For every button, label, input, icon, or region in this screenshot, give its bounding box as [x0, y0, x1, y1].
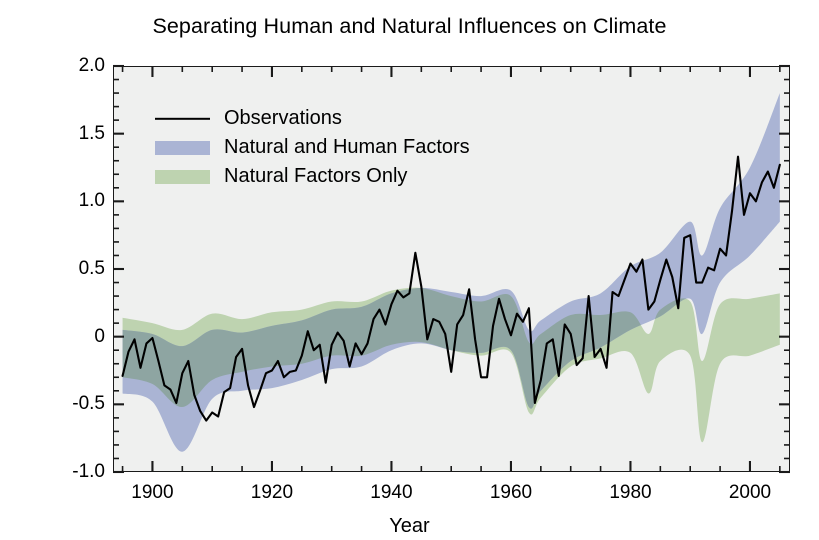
x-axis-label: Year	[0, 515, 819, 538]
x-tick-label: 2000	[710, 482, 790, 504]
legend-item-1[interactable]: Observations	[155, 104, 485, 133]
axis-ticks	[0, 0, 819, 540]
y-tick-label: 1.0	[45, 190, 105, 212]
legend-band-swatch	[155, 170, 210, 184]
legend-label: Natural and Human Factors	[224, 136, 470, 159]
x-tick-label: 1980	[590, 482, 670, 504]
legend-label: Observations	[224, 107, 342, 130]
chart-page: Separating Human and Natural Influences …	[0, 0, 819, 540]
y-tick-label: 1.5	[45, 123, 105, 145]
y-tick-label: 2.0	[45, 55, 105, 77]
y-tick-label: 0	[45, 326, 105, 348]
legend-label: Natural Factors Only	[224, 165, 407, 188]
legend-band-swatch	[155, 141, 210, 155]
x-tick-label: 1900	[112, 482, 192, 504]
x-tick-label: 1960	[471, 482, 551, 504]
y-tick-label: -0.5	[45, 393, 105, 415]
y-tick-label: -1.0	[45, 461, 105, 483]
y-tick-label: 0.5	[45, 258, 105, 280]
x-tick-label: 1920	[232, 482, 312, 504]
chart-legend: ObservationsNatural and Human FactorsNat…	[155, 104, 485, 191]
legend-item-3[interactable]: Natural Factors Only	[155, 162, 485, 191]
legend-line-swatch	[155, 112, 210, 126]
legend-item-2[interactable]: Natural and Human Factors	[155, 133, 485, 162]
x-tick-label: 1940	[351, 482, 431, 504]
